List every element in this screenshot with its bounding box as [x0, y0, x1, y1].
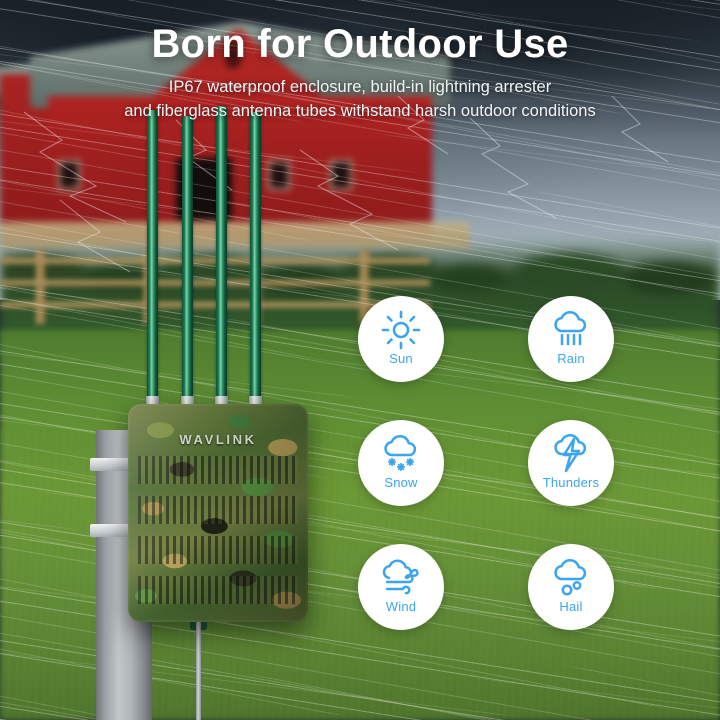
badge-label: Sun [389, 351, 413, 366]
subtitle-line-2: and fiberglass antenna tubes withstand h… [0, 100, 720, 122]
thunder-cloud-icon [549, 434, 593, 474]
rain-cloud-icon [549, 310, 593, 350]
badge-snow[interactable]: Snow [358, 420, 444, 506]
hail-cloud-icon [549, 558, 593, 598]
badge-hail[interactable]: Hail [528, 544, 614, 630]
badge-label: Hail [559, 599, 582, 614]
wind-cloud-icon [379, 558, 423, 598]
subtitle-line-1: IP67 waterproof enclosure, build-in ligh… [0, 76, 720, 98]
header-text-block: Born for Outdoor Use IP67 waterproof enc… [0, 0, 720, 122]
sun-icon [379, 310, 423, 350]
badge-label: Snow [384, 475, 417, 490]
badge-label: Thunders [543, 475, 600, 490]
badge-sun[interactable]: Sun [358, 296, 444, 382]
product-marketing-image: WAVLINK Born for Outdoor Use IP67 waterp… [0, 0, 720, 720]
page-title: Born for Outdoor Use [0, 22, 720, 67]
badge-label: Wind [386, 599, 416, 614]
badge-rain[interactable]: Rain [528, 296, 614, 382]
badge-label: Rain [557, 351, 585, 366]
snow-cloud-icon [379, 434, 423, 474]
badge-thunders[interactable]: Thunders [528, 420, 614, 506]
badge-wind[interactable]: Wind [358, 544, 444, 630]
